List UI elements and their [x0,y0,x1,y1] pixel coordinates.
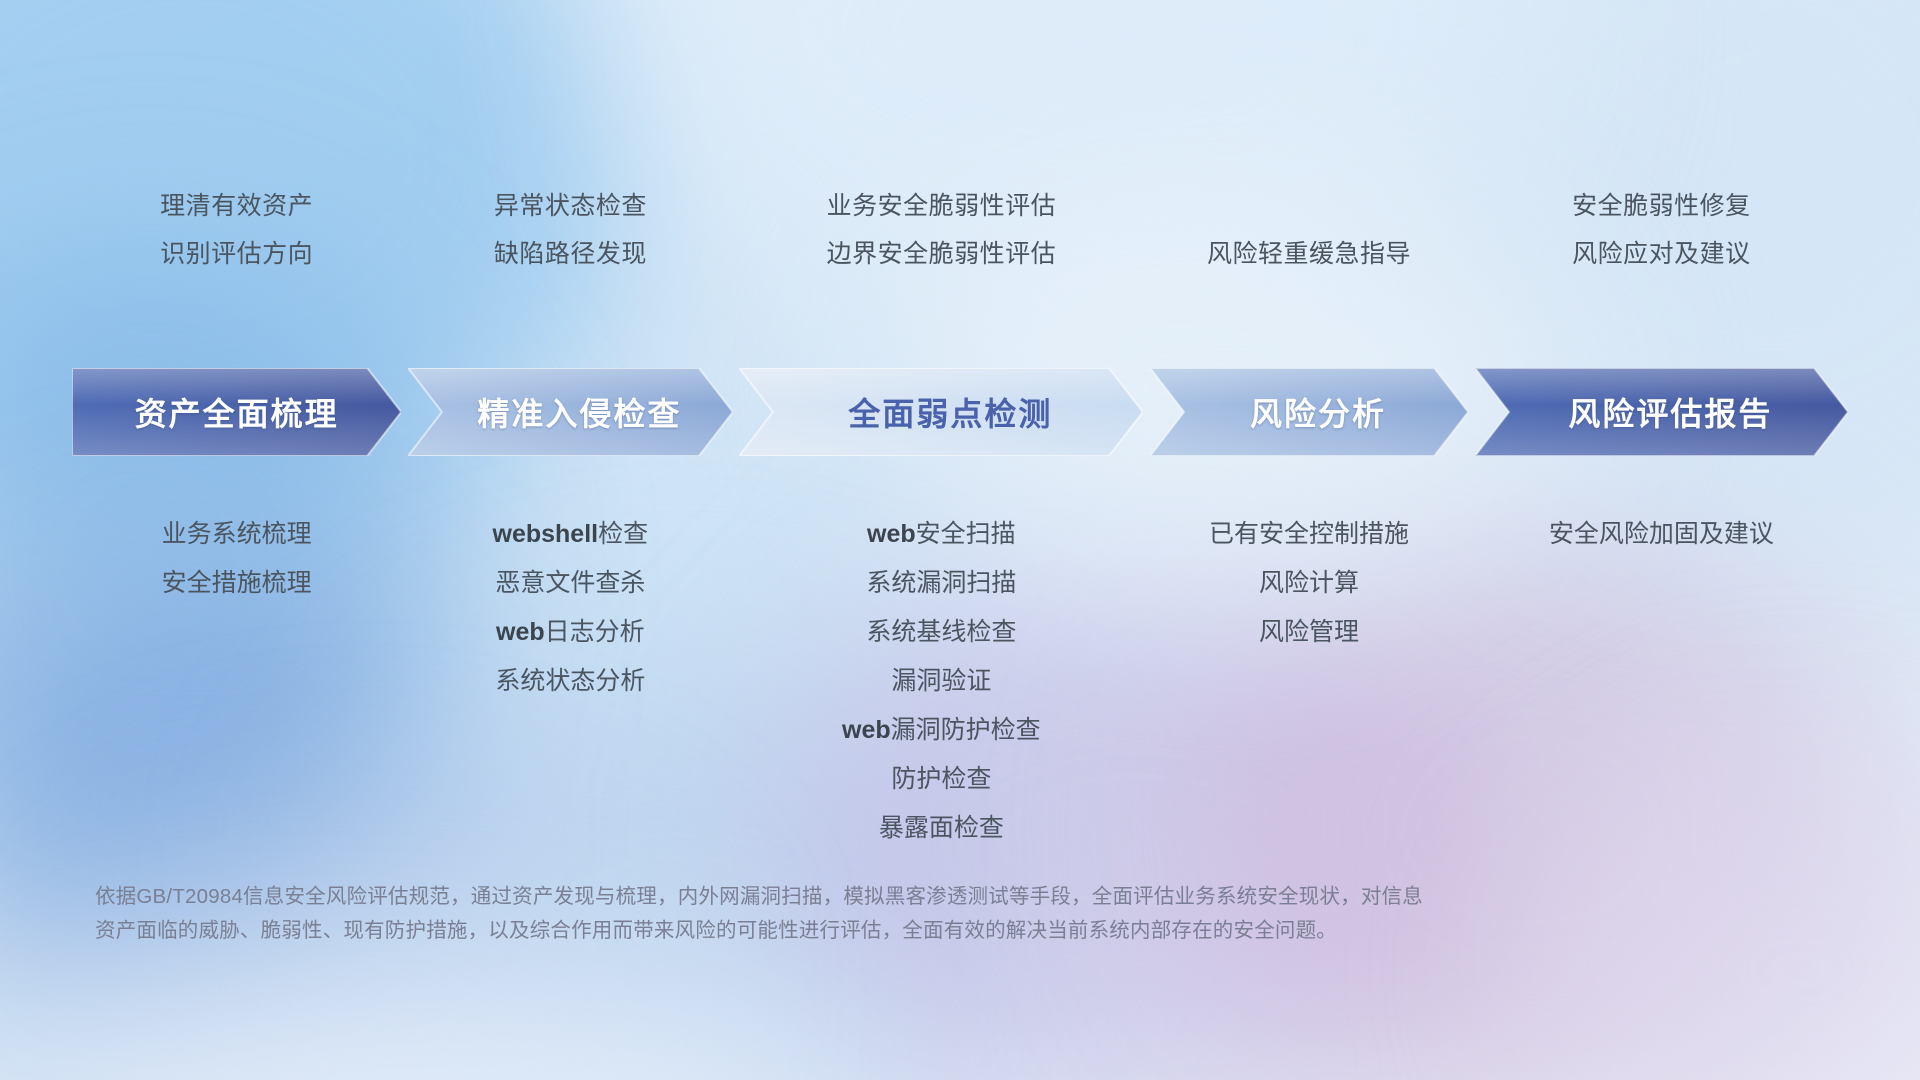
bottom-caption-weakness-detection-5: 防护检查 [661,767,1221,792]
footer-description: 依据GB/T20984信息安全风险评估规范，通过资产发现与梳理，内外网漏洞扫描，… [95,880,1595,948]
top-caption-weakness-detection-0: 业务安全脆弱性评估 [681,194,1201,219]
stage-title-asset-inventory: 资产全面梳理 [135,389,339,435]
bottom-caption-weakness-detection-6: 暴露面检查 [661,816,1221,841]
bottom-caption-risk-analysis-1: 风险计算 [1029,571,1589,596]
stage-chevron-risk-analysis[interactable]: 风险分析 [1150,368,1468,456]
stage-chevron-weakness-detection[interactable]: 全面弱点检测 [739,368,1143,456]
footer-line-1: 依据GB/T20984信息安全风险评估规范，通过资产发现与梳理，内外网漏洞扫描，… [95,880,1595,914]
bottom-caption-risk-report-0: 安全风险加固及建议 [1381,522,1920,547]
bottom-caption-risk-analysis-2: 风险管理 [1029,620,1589,645]
stage-title-risk-report: 风险评估报告 [1550,389,1772,435]
stage-title-weakness-detection: 全面弱点检测 [830,389,1052,435]
stage-title-intrusion-check: 精准入侵检查 [459,389,681,435]
stage-chevron-asset-inventory[interactable]: 资产全面梳理 [72,368,401,456]
top-caption-risk-report-1: 风险应对及建议 [1401,242,1920,267]
footer-line-2: 资产面临的威胁、脆弱性、现有防护措施，以及综合作用而带来风险的可能性进行评估，全… [95,914,1595,948]
process-flow-banner: 资产全面梳理精准入侵检查全面弱点检测风险分析风险评估报告 [72,368,1848,456]
stage-chevron-risk-report[interactable]: 风险评估报告 [1475,368,1848,456]
stage-chevron-intrusion-check[interactable]: 精准入侵检查 [408,368,733,456]
bottom-caption-weakness-detection-3: 漏洞验证 [661,669,1221,694]
bottom-caption-weakness-detection-4: web漏洞防护检查 [661,718,1221,743]
stage-title-risk-analysis: 风险分析 [1232,389,1386,435]
top-caption-risk-report-0: 安全脆弱性修复 [1401,194,1920,219]
